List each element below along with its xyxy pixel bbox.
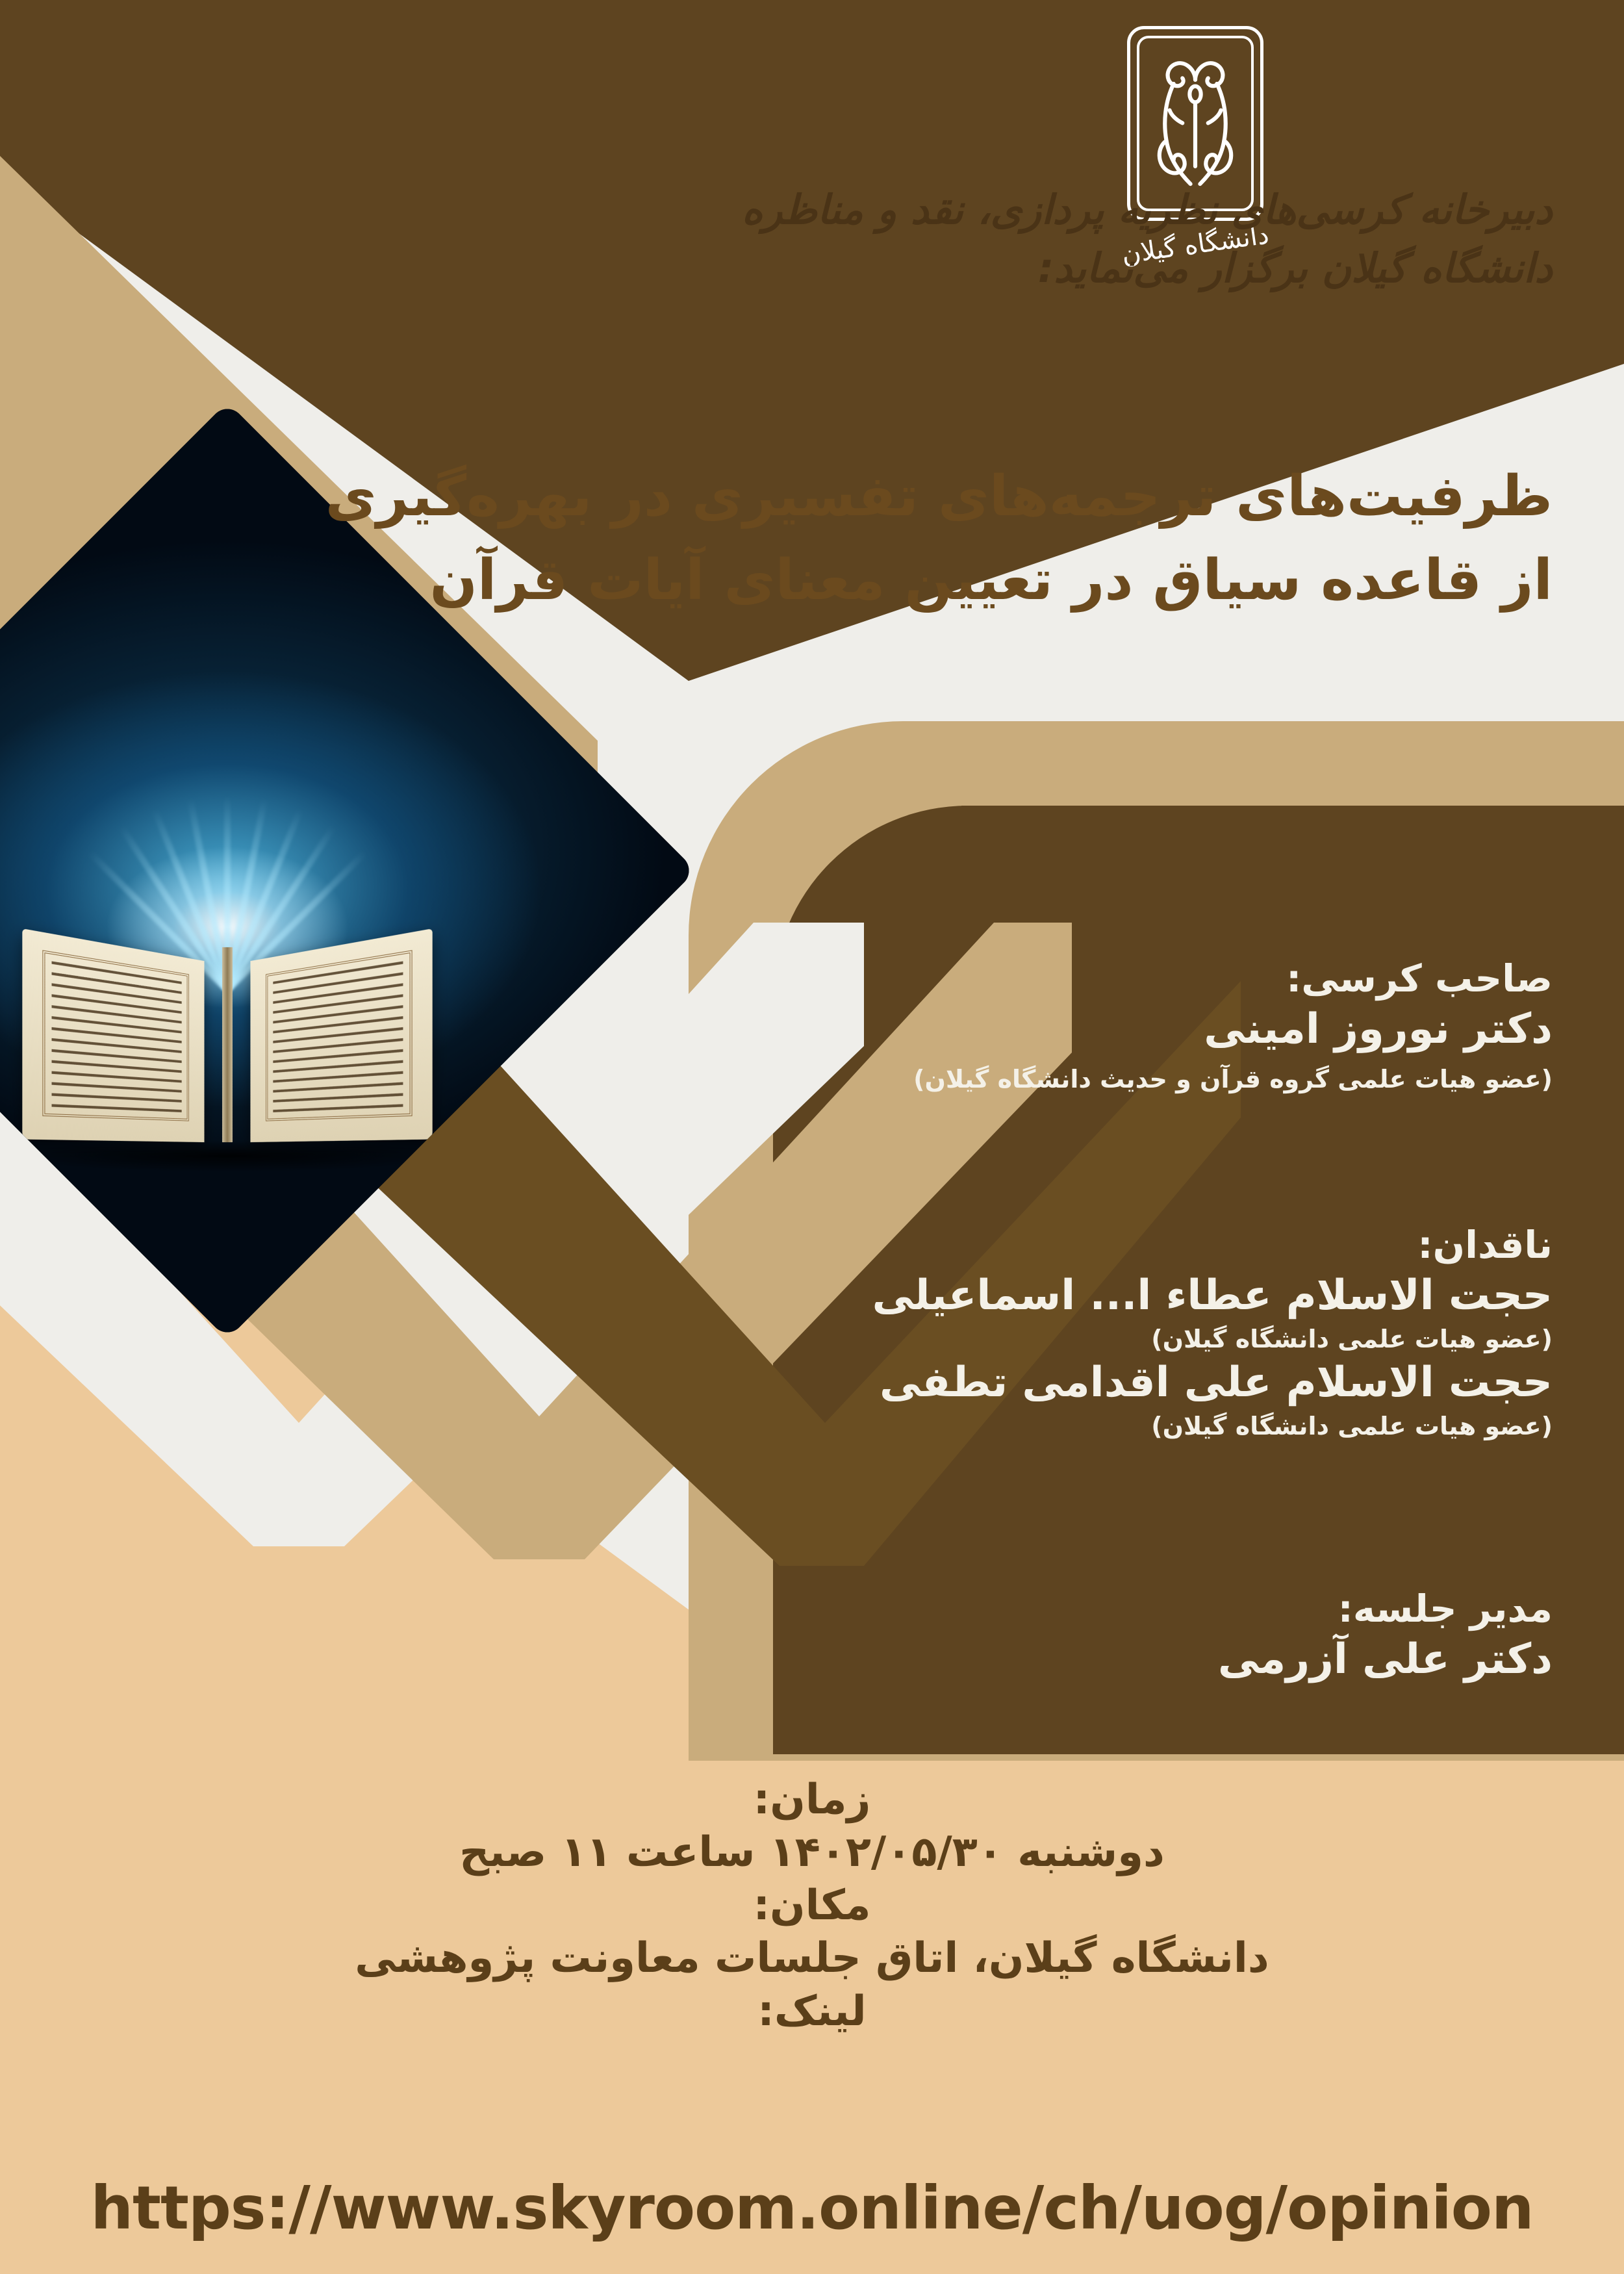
organizer-line-1: دبیرخانه کرسی‌های نظریه پردازی، نقد و من…	[0, 181, 1553, 239]
critic-2-affiliation: (عضو هیات علمی دانشگاه گیلان)	[708, 1410, 1553, 1443]
open-book-illustration	[19, 946, 435, 1160]
critic-1-name: حجت الاسلام عطاء ا... اسماعیلی	[708, 1269, 1553, 1323]
chair-name: دکتر نوروز امینی	[708, 1003, 1553, 1056]
event-poster: دانشگاه گیلان دبیرخانه کرسی‌های نظریه پر…	[0, 0, 1624, 2274]
event-title: ظرفیت‌های ترجمه‌های تفسیری در بهره‌گیری …	[78, 455, 1553, 622]
place-value: دانشگاه گیلان، اتاق جلسات معاونت پژوهشی	[78, 1932, 1546, 1986]
chair-role-label: صاحب کرسی:	[708, 955, 1553, 1003]
organizer-header: دبیرخانه کرسی‌های نظریه پردازی، نقد و من…	[0, 181, 1553, 298]
chair-affiliation: (عضو هیات علمی گروه قرآن و حدیث دانشگاه …	[708, 1063, 1553, 1096]
critics-block: ناقدان: حجت الاسلام عطاء ا... اسماعیلی (…	[708, 1221, 1553, 1443]
time-value: دوشنبه ۱۴۰۲/۰۵/۳۰ ساعت ۱۱ صبح	[78, 1826, 1546, 1880]
event-title-line-1: ظرفیت‌های ترجمه‌های تفسیری در بهره‌گیری	[78, 455, 1553, 539]
schedule-block: زمان: دوشنبه ۱۴۰۲/۰۵/۳۰ ساعت ۱۱ صبح مکان…	[78, 1774, 1546, 2038]
event-title-line-2: از قاعده سیاق در تعیین معنای آیات قرآن	[78, 539, 1553, 622]
place-label: مکان:	[78, 1880, 1546, 1932]
link-label: لینک:	[78, 1986, 1546, 2038]
critics-role-label: ناقدان:	[708, 1221, 1553, 1269]
moderator-name: دکتر علی آزرمی	[708, 1633, 1553, 1687]
time-label: زمان:	[78, 1774, 1546, 1826]
meeting-link[interactable]: https://www.skyroom.online/ch/uog/opinio…	[0, 2173, 1624, 2243]
critic-2-name: حجت الاسلام علی اقدامی تطفی	[708, 1356, 1553, 1410]
organizer-line-2: دانشگاه گیلان برگزار می‌نماید:	[0, 239, 1553, 298]
moderator-role-label: مدیر جلسه:	[708, 1585, 1553, 1633]
moderator-block: مدیر جلسه: دکتر علی آزرمی	[708, 1585, 1553, 1687]
chair-block: صاحب کرسی: دکتر نوروز امینی (عضو هیات عل…	[708, 955, 1553, 1096]
critic-1-affiliation: (عضو هیات علمی دانشگاه گیلان)	[708, 1323, 1553, 1356]
